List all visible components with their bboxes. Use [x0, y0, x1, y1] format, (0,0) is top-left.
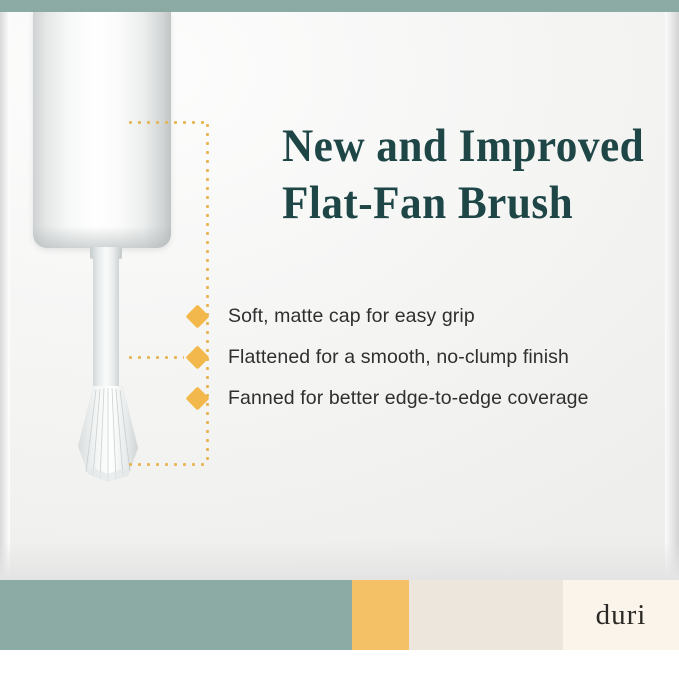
guide-dots-middle-horizontal: [126, 356, 184, 359]
brush-stem: [93, 247, 119, 393]
bottom-edge-shading: [0, 540, 679, 580]
list-item: Fanned for better edge-to-edge coverage: [186, 378, 656, 419]
page-title: New and Improved Flat-Fan Brush: [282, 118, 632, 233]
headline-line-1: New and Improved: [282, 120, 644, 172]
bottom-cream-swatch: [409, 580, 563, 650]
product-feature-poster: New and Improved Flat-Fan Brush Soft, ma…: [0, 0, 679, 679]
list-item: Flattened for a smooth, no-clump finish: [186, 337, 656, 378]
list-item-label: Fanned for better edge-to-edge coverage: [228, 387, 589, 410]
right-edge-shading: [665, 12, 679, 580]
brand-logo: duri: [563, 580, 679, 650]
headline-line-2: Flat-Fan Brush: [282, 175, 632, 232]
list-item: Soft, matte cap for easy grip: [186, 296, 656, 337]
diamond-bullet-icon: [185, 386, 209, 410]
bottom-yellow-swatch: [352, 580, 409, 650]
polish-cap: [33, 12, 171, 248]
guide-dots-bottom-horizontal: [126, 463, 208, 466]
left-edge-shading: [0, 12, 10, 580]
feature-list: Soft, matte cap for easy grip Flattened …: [186, 296, 656, 419]
footer-whitespace: [0, 650, 679, 679]
top-teal-band: [0, 0, 679, 12]
diamond-bullet-icon: [185, 345, 209, 369]
list-item-label: Flattened for a smooth, no-clump finish: [228, 346, 569, 369]
list-item-label: Soft, matte cap for easy grip: [228, 305, 475, 328]
guide-dots-top-horizontal: [126, 121, 208, 124]
brush-bristles-icon: [62, 386, 154, 482]
cap-bottom-shading: [33, 226, 171, 248]
diamond-bullet-icon: [185, 304, 209, 328]
